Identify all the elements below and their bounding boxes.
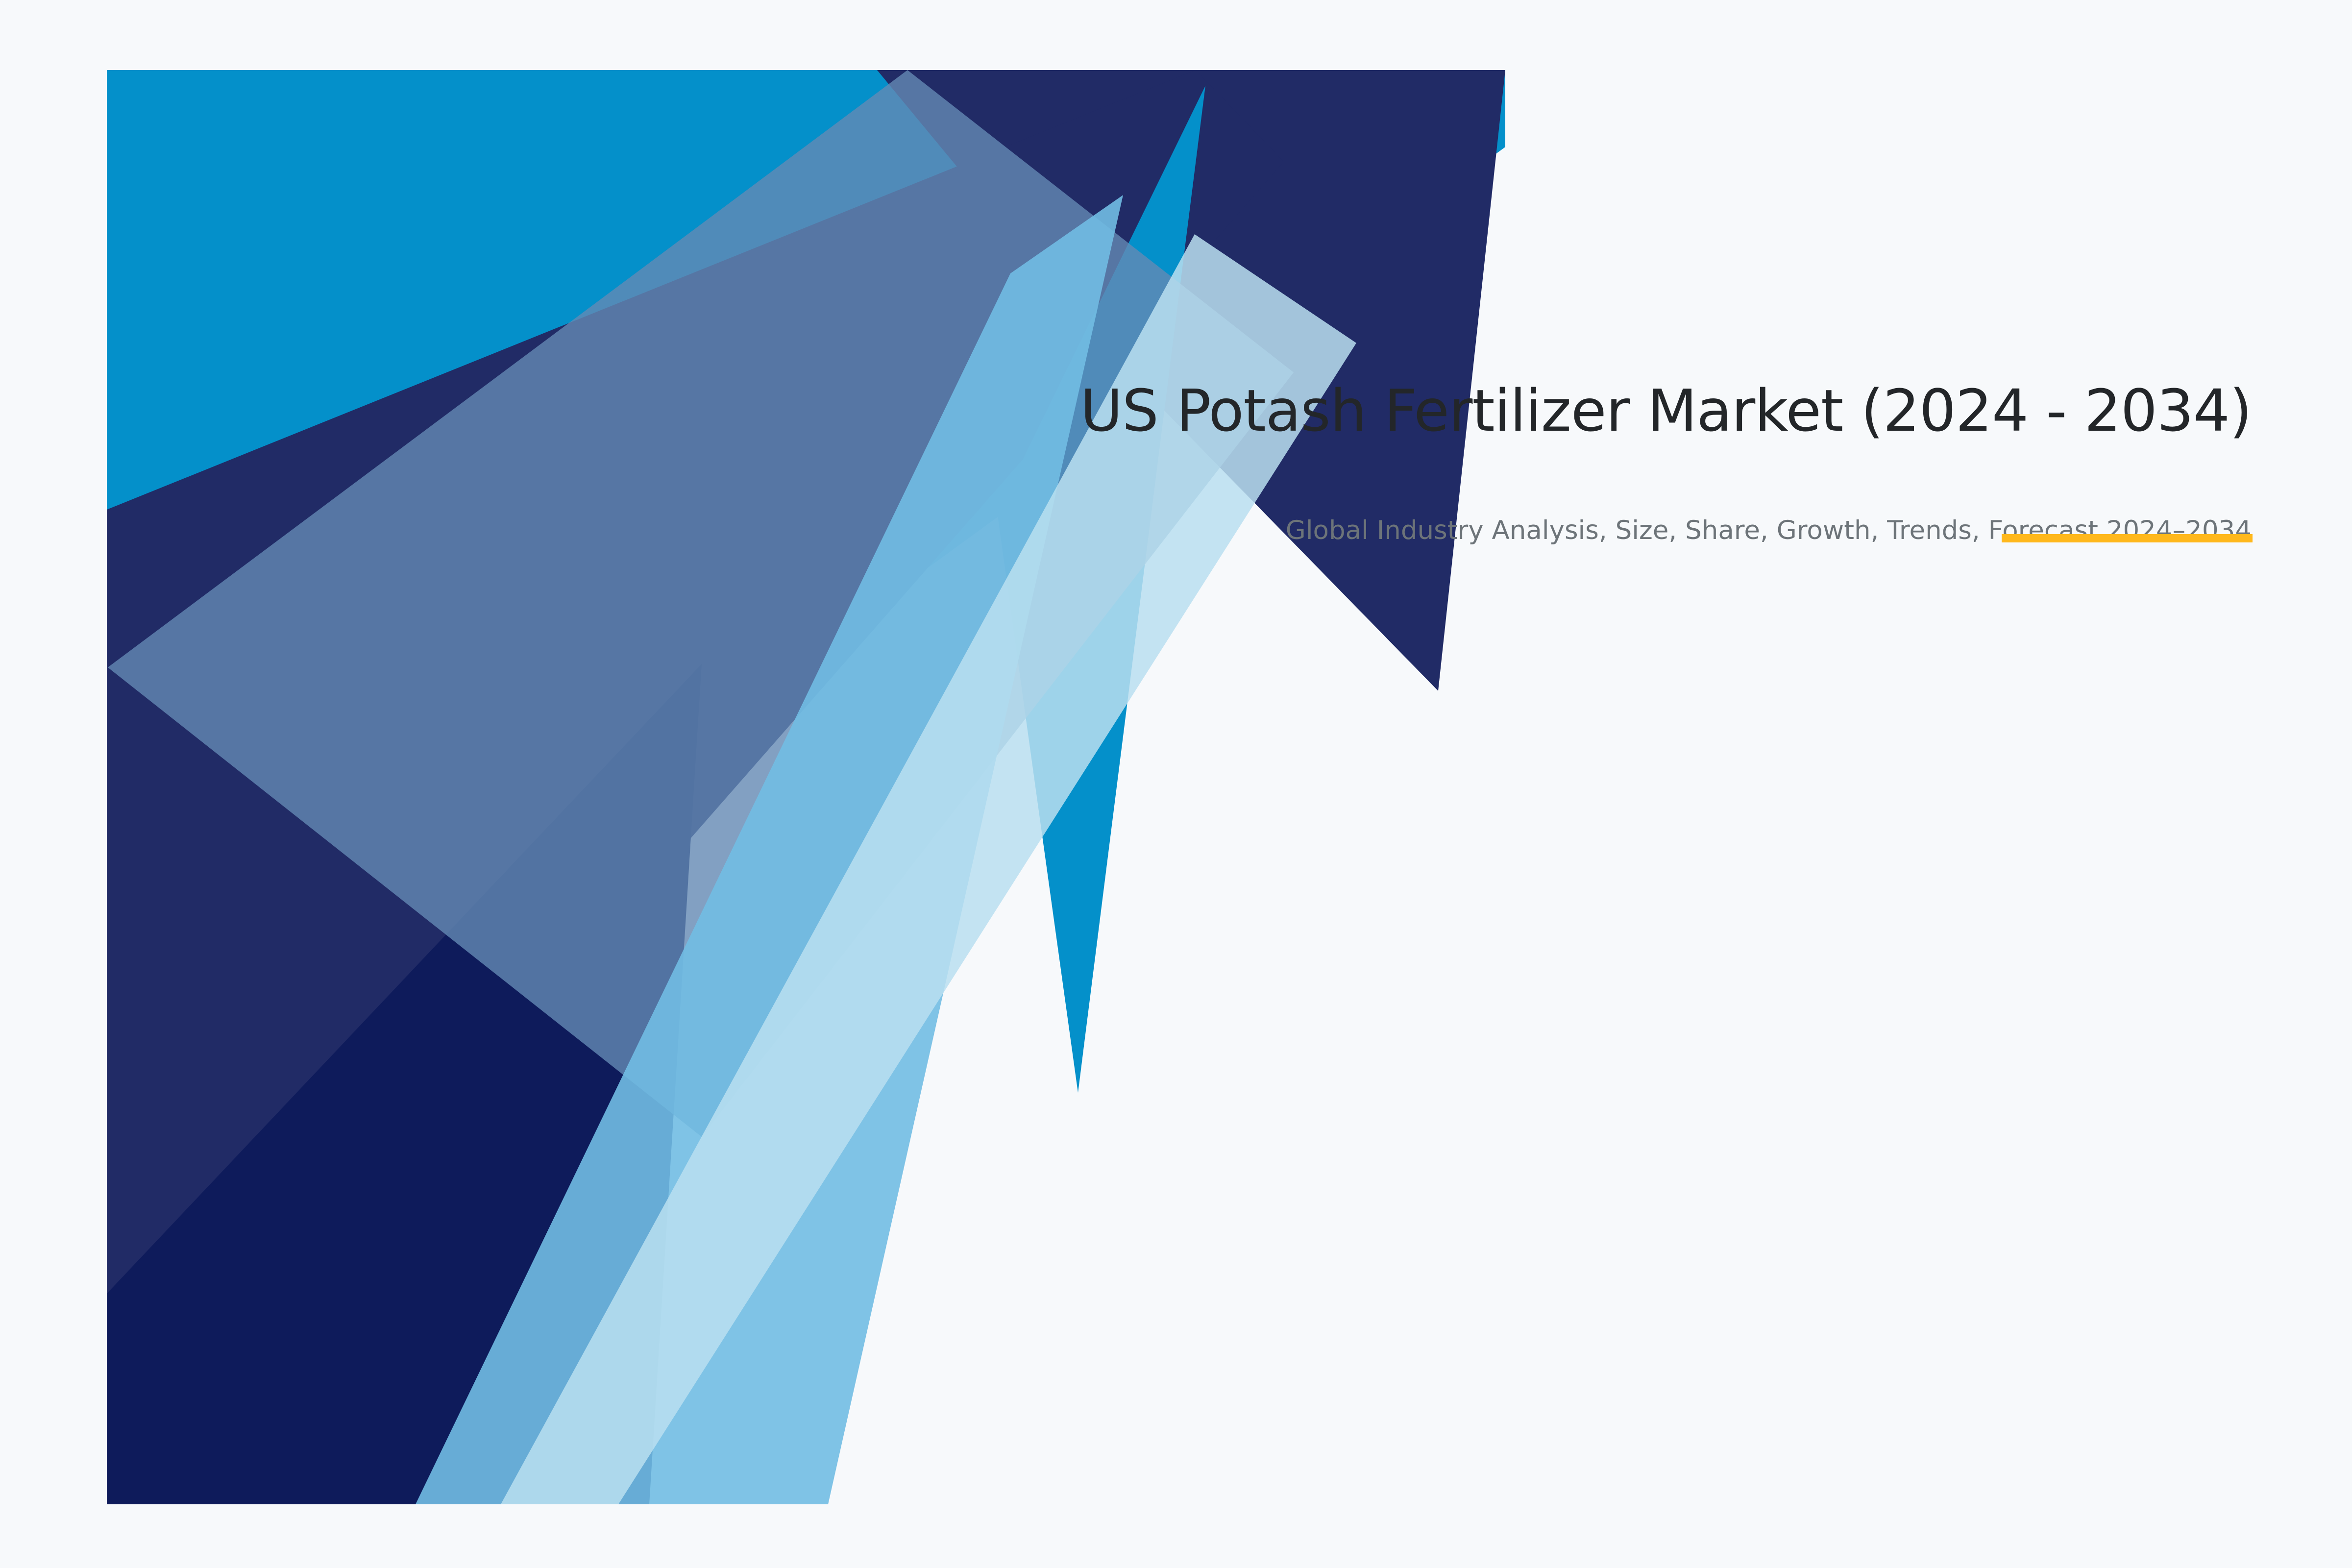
title-accent-underline (2002, 534, 2253, 542)
cover-slide: US Potash Fertilizer Market (2024 - 2034… (0, 0, 2352, 1568)
abstract-geometric-cover-art (0, 0, 2352, 1568)
page-title: US Potash Fertilizer Market (2024 - 2034… (931, 372, 2252, 449)
page-subtitle: Global Industry Analysis, Size, Share, G… (931, 512, 2252, 550)
shape-navy-diagonal-band (107, 70, 1284, 1504)
shape-sky-blue-sliver (997, 86, 1205, 1093)
shape-deep-navy-spike (107, 664, 702, 1504)
title-wrapper: US Potash Fertilizer Market (2024 - 2034… (931, 372, 2252, 449)
hero-text-block: US Potash Fertilizer Market (2024 - 2034… (931, 372, 2252, 550)
shape-cyan-base-panel (107, 70, 1505, 1166)
shape-slate-blue-quad (108, 70, 1294, 1137)
